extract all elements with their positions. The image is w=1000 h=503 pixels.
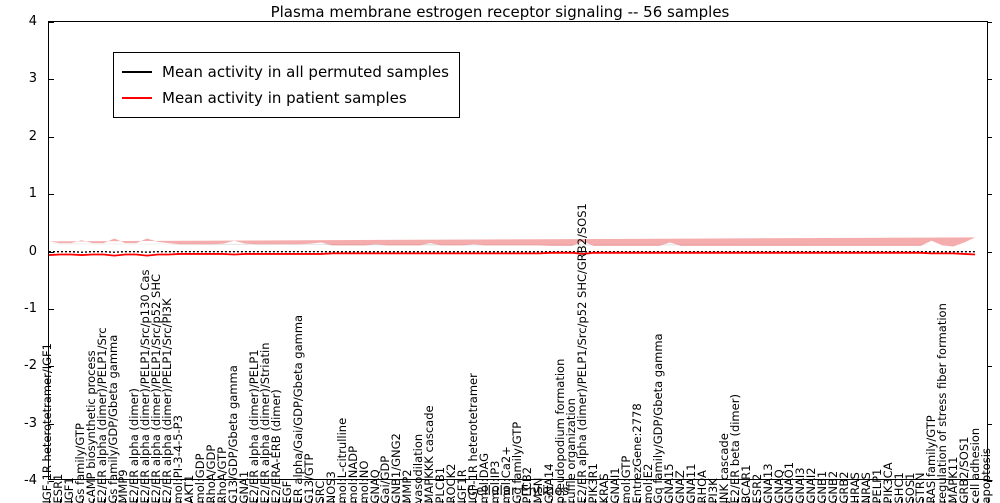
legend-swatch-patient-icon — [122, 97, 152, 99]
y-tick-label: 3 — [0, 71, 37, 86]
legend-item: Mean activity in all permuted samples — [122, 59, 449, 85]
chart-title: Plasma membrane estrogen receptor signal… — [0, 3, 1000, 21]
x-axis-title: Cellular Entities — [48, 484, 988, 499]
legend-label-permuted: Mean activity in all permuted samples — [162, 63, 449, 81]
y-tick-mark — [49, 252, 54, 253]
y-tick-label: 2 — [0, 129, 37, 144]
y-tick-mark — [49, 22, 54, 23]
chart-root: Plasma membrane estrogen receptor signal… — [0, 0, 1000, 500]
y-tick-mark — [987, 424, 992, 425]
y-tick-mark — [987, 22, 992, 23]
legend-swatch-permuted-icon — [122, 71, 152, 73]
y-tick-label: -1 — [0, 301, 37, 316]
y-tick-mark — [987, 309, 992, 310]
legend-label-patient: Mean activity in patient samples — [162, 89, 407, 107]
y-tick-mark — [49, 309, 54, 310]
y-tick-mark — [987, 137, 992, 138]
plot-area: -4-3-2-101234 IGF-1R heterotetramer/IGF1… — [48, 21, 988, 480]
y-tick-label: 4 — [0, 14, 37, 29]
patient-mean-line — [49, 253, 975, 256]
y-tick-mark — [49, 79, 54, 80]
y-tick-mark — [49, 137, 54, 138]
legend-item: Mean activity in patient samples — [122, 85, 449, 111]
y-tick-label: 0 — [0, 244, 37, 259]
y-tick-label: -2 — [0, 358, 37, 373]
y-tick-mark — [987, 252, 992, 253]
chart-legend: Mean activity in all permuted samples Me… — [113, 52, 460, 118]
y-tick-mark — [987, 366, 992, 367]
x-tick-label: E2/ER alpha (dimer)/PELP1/Src/p52 SHC/GR… — [577, 203, 589, 503]
y-tick-label: -4 — [0, 473, 37, 488]
y-tick-mark — [49, 194, 54, 195]
patient-std-band — [49, 237, 975, 246]
y-tick-label: -3 — [0, 416, 37, 431]
y-tick-label: 1 — [0, 186, 37, 201]
y-tick-mark — [987, 79, 992, 80]
y-tick-mark — [987, 194, 992, 195]
